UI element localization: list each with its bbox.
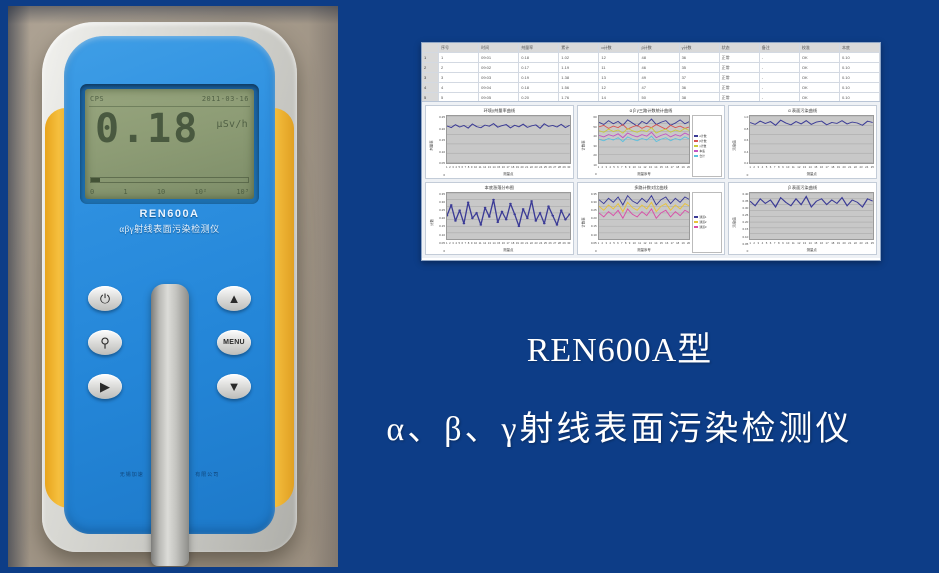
device-model-label: REN600A (64, 208, 275, 220)
spreadsheet-cell: 12 (599, 83, 639, 92)
chart-plot-area (446, 192, 571, 241)
chart-legend-swatch (694, 155, 698, 157)
chart-legend-item: β计数 (694, 139, 720, 143)
chart-data-point (454, 220, 457, 222)
chart-data-point (543, 222, 546, 224)
chart-series-line (447, 124, 570, 129)
lcd-status-right: 2011-03-16 (202, 95, 249, 103)
footnote-right: 有限公司 (195, 471, 219, 478)
chart-x-axis-label: 测量点 (749, 171, 874, 177)
lcd-scale-tick: 0 (90, 188, 94, 196)
chart-data-point (488, 216, 491, 218)
product-model-title: REN600A型 (300, 322, 939, 371)
chart-y-tick: 30 (586, 144, 597, 148)
chart-legend-swatch (694, 221, 698, 223)
spreadsheet-cell: 37 (680, 73, 720, 82)
chart-legend-swatch (694, 216, 698, 218)
search-button[interactable]: ⚲ (88, 330, 122, 355)
chart-x-axis-label: 测量点 (446, 247, 571, 253)
device-subtitle-label: αβγ射线表面污染检测仪 (64, 222, 275, 235)
chart-series-line (599, 128, 690, 133)
spreadsheet-cell: 5 (439, 93, 479, 102)
chart-title: β 表面污染曲线 (729, 183, 876, 192)
lcd-scale: 011010²10³ (90, 186, 249, 197)
chart-data-point (518, 225, 521, 227)
chart-legend-label: 合计 (699, 154, 705, 158)
chart-y-tick: 0.10 (434, 150, 445, 154)
lcd-scale-tick: 10 (157, 188, 165, 196)
chart-data-point (475, 212, 478, 214)
chart-y-tick: 0.25 (737, 213, 748, 217)
chart-legend-item: 通道2 (694, 220, 720, 224)
chart-title: α 表面污染曲线 (729, 106, 876, 115)
chart-y-tick: 0 (586, 249, 597, 253)
spreadsheet-cell: 1.76 (559, 93, 599, 102)
spreadsheet-cell: 50 (639, 93, 679, 102)
chart-card: 多路计数对比曲线计数率0.350.300.250.200.150.100.050… (577, 182, 726, 256)
spreadsheet-cell: - (760, 63, 800, 72)
chart-x-axis-label: 测量点 (446, 171, 571, 177)
spreadsheet-cell: 3 (439, 73, 479, 82)
spreadsheet-cell: γ计数 (680, 43, 720, 52)
chart-y-ticks: 0.350.300.250.200.150.100.050 (586, 192, 598, 254)
chart-series-line (599, 202, 690, 211)
chart-plot-area (749, 192, 874, 241)
device-front-face: CPS 2011-03-16 0.18 μSv/h 011010²10³ REN… (64, 36, 275, 534)
chart-y-tick: 0.35 (586, 192, 597, 196)
spreadsheet-cell: 14 (599, 93, 639, 102)
lcd-scale-tick: 1 (123, 188, 127, 196)
chart-y-tick: 0 (737, 249, 748, 253)
chart-card: 环境γ剂量率曲线剂量率0.250.200.150.100.05012345678… (425, 105, 574, 179)
chart-legend-label: 通道1 (699, 215, 706, 219)
chart-y-tick: 0.30 (586, 200, 597, 204)
power-icon: ⏻ (100, 292, 110, 305)
spreadsheet-cell: - (760, 93, 800, 102)
spreadsheet-cell: 36 (680, 53, 720, 62)
chart-data-point (471, 217, 474, 219)
chart-y-tick: 0.15 (586, 224, 597, 228)
chart-y-tick: 0.20 (586, 216, 597, 220)
chart-data-point (513, 213, 516, 215)
chart-data-point (539, 212, 542, 214)
chart-legend-item: α计数 (694, 134, 720, 138)
chart-series-line (750, 196, 873, 206)
chart-y-tick: 0.20 (737, 220, 748, 224)
spreadsheet-cell: 0.19 (519, 73, 559, 82)
chart-y-ticks: 0.250.200.150.100.050 (434, 115, 446, 177)
spreadsheet-row-index (422, 43, 439, 52)
chart-y-tick: 0 (586, 172, 597, 176)
device-footnote: 无锡加速 有限公司 (64, 471, 275, 478)
chart-legend: 通道1通道2通道3 (692, 192, 722, 254)
chart-y-tick: 0.15 (737, 227, 748, 231)
spreadsheet-cell: 序号 (439, 43, 479, 52)
spreadsheet-cell: 09:01 (479, 53, 519, 62)
chart-y-tick: 0.2 (737, 161, 748, 165)
chart-data-point (551, 214, 554, 216)
lcd-bargraph (90, 177, 249, 183)
spreadsheet-cell: 正常 (720, 73, 760, 82)
spreadsheet-cell: 49 (639, 73, 679, 82)
chart-y-tick: 0.4 (737, 150, 748, 154)
spreadsheet-header-row: 序号时间剂量率累计α计数β计数γ计数状态备注校准本底 (422, 43, 880, 53)
chart-y-tick: 40 (586, 134, 597, 138)
spreadsheet-cell: 38 (680, 93, 720, 102)
chart-y-tick: 0.05 (434, 241, 445, 245)
search-icon: ⚲ (100, 336, 110, 349)
chart-y-tick: 0.05 (434, 161, 445, 165)
chart-data-point (492, 198, 495, 200)
chart-y-tick: 0.05 (586, 241, 597, 245)
chart-series-line (750, 120, 873, 125)
spreadsheet-cell: 13 (599, 73, 639, 82)
chart-legend-swatch (694, 135, 698, 137)
spreadsheet-cell: 46 (639, 63, 679, 72)
chart-x-ticks: 1234567891011121314151617181920 (598, 240, 691, 247)
chart-y-tick: 60 (586, 115, 597, 119)
chart-legend-label: α计数 (699, 134, 706, 138)
chart-data-point (484, 206, 487, 208)
chart-y-tick: 0.25 (434, 208, 445, 212)
chart-series-line (599, 195, 690, 204)
footnote-left: 无锡加速 (120, 471, 144, 478)
spreadsheet-cell: 36 (680, 83, 720, 92)
spreadsheet-cell: 1.02 (559, 53, 599, 62)
chart-title: 本底涨落分布图 (426, 183, 573, 192)
spreadsheet-cell: 2 (439, 63, 479, 72)
chart-x-ticks: 1234567891011121314151617181920212223242… (446, 164, 571, 171)
chart-series-line (599, 136, 690, 141)
chart-title: 多路计数对比曲线 (578, 183, 725, 192)
spreadsheet-cell: OK (800, 73, 840, 82)
spreadsheet-cell: - (760, 73, 800, 82)
chart-legend-swatch (694, 150, 698, 152)
power-button[interactable]: ⏻ (88, 286, 122, 311)
spreadsheet-row-index: 4 (422, 83, 439, 92)
chart-data-point (530, 200, 533, 202)
spreadsheet-cell: 1.38 (559, 73, 599, 82)
title-block: REN600A型 α、β、γ射线表面污染检测仪 (300, 322, 939, 450)
chevron-down-icon: ▼ (228, 380, 241, 393)
spreadsheet-cell: 0.18 (519, 53, 559, 62)
spreadsheet-cell: 时间 (479, 43, 519, 52)
spreadsheet-row-index: 3 (422, 73, 439, 82)
spreadsheet-row: 5509:050.201.76145038正常-OK0.10 (422, 93, 880, 102)
lcd-display: CPS 2011-03-16 0.18 μSv/h 011010²10³ (85, 89, 254, 199)
chart-plot-area (749, 115, 874, 164)
spreadsheet-cell: 0.20 (519, 93, 559, 102)
lcd-status-bar: CPS 2011-03-16 (90, 92, 249, 105)
spreadsheet-cell: 正常 (720, 63, 760, 72)
spreadsheet-cell: 0.17 (519, 63, 559, 72)
chart-x-axis-label: 测量序号 (598, 247, 691, 253)
chart-legend-item: 本底 (694, 149, 720, 153)
spreadsheet-cell: 47 (639, 83, 679, 92)
chart-data-point (463, 222, 466, 224)
lcd-value: 0.18 (95, 109, 199, 149)
spreadsheet-cell: - (760, 83, 800, 92)
chart-data-point (564, 218, 567, 220)
spreadsheet-cell: 1.56 (559, 83, 599, 92)
spreadsheet-cell: 09:02 (479, 63, 519, 72)
spreadsheet-cell: 0.10 (840, 63, 880, 72)
chart-plot-area (446, 115, 571, 164)
chart-y-tick: 0.6 (737, 138, 748, 142)
chart-data-point (447, 214, 448, 216)
chart-y-ticks: 6050403020100 (586, 115, 598, 177)
chart-legend-item: 通道3 (694, 225, 720, 229)
chart-y-tick: 0.25 (586, 208, 597, 212)
spreadsheet-cell: OK (800, 63, 840, 72)
lcd-unit: μSv/h (216, 119, 248, 130)
spreadsheet-cell: 状态 (720, 43, 760, 52)
chart-y-tick: 20 (586, 153, 597, 157)
spreadsheet-cell: 4 (439, 83, 479, 92)
spreadsheet-cell: OK (800, 53, 840, 62)
chart-x-axis-label: 测量点 (749, 247, 874, 253)
chart-y-ticks: 1.00.80.60.40.20 (737, 115, 749, 177)
spreadsheet-row-index: 5 (422, 93, 439, 102)
spreadsheet-area: 序号时间剂量率累计α计数β计数γ计数状态备注校准本底1109:010.181.0… (422, 43, 880, 102)
spreadsheet-cell: β计数 (639, 43, 679, 52)
chart-x-axis-label: 测量序号 (598, 171, 691, 177)
chart-data-point (505, 218, 508, 220)
chart-y-tick: 0.35 (737, 199, 748, 203)
chart-data-point (467, 201, 470, 203)
chart-y-tick: 0.20 (434, 127, 445, 131)
spreadsheet-cell: OK (800, 93, 840, 102)
device-branding: REN600A αβγ射线表面污染检测仪 (64, 208, 275, 235)
chart-series-line (599, 132, 690, 137)
chart-data-point (560, 209, 563, 211)
chart-data-point (526, 217, 529, 219)
product-name-title: α、β、γ射线表面污染检测仪 (300, 401, 939, 450)
chart-y-tick: 0.25 (434, 115, 445, 119)
chart-series-line (599, 208, 690, 217)
chart-legend-label: γ计数 (699, 144, 706, 148)
spreadsheet-cell: 0.10 (840, 53, 880, 62)
spreadsheet-cell: 正常 (720, 53, 760, 62)
chart-y-tick: 0.15 (434, 224, 445, 228)
chart-x-ticks: 1234567891011121314151617181920212223242… (446, 240, 571, 247)
spreadsheet-cell: 0.18 (519, 83, 559, 92)
chart-legend-label: β计数 (699, 139, 706, 143)
menu-button[interactable]: MENU (217, 330, 251, 355)
charts-grid: 环境γ剂量率曲线剂量率0.250.200.150.100.05012345678… (422, 102, 880, 258)
chart-y-tick: 0.10 (586, 233, 597, 237)
spreadsheet-cell: 09:04 (479, 83, 519, 92)
chart-card: β 表面污染曲线污染值0.400.350.300.250.200.150.100… (728, 182, 877, 256)
chart-y-tick: 0.10 (737, 235, 748, 239)
chart-legend-item: 合计 (694, 154, 720, 158)
play-icon: ▶ (100, 380, 110, 393)
spreadsheet-row-index: 1 (422, 53, 439, 62)
lcd-status-left: CPS (90, 95, 104, 103)
chart-title: 环境γ剂量率曲线 (426, 106, 573, 115)
spreadsheet-cell: 正常 (720, 83, 760, 92)
chart-series-line (447, 199, 570, 226)
spreadsheet-cell: - (760, 53, 800, 62)
chart-y-tick: 0.15 (434, 138, 445, 142)
lcd-scale-tick: 10² (194, 188, 207, 196)
chart-series-line (599, 125, 690, 130)
chart-legend-item: γ计数 (694, 144, 720, 148)
spreadsheet-row: 2209:020.171.19114635正常-OK0.10 (422, 63, 880, 73)
spreadsheet-cell: 09:03 (479, 73, 519, 82)
chart-y-tick: 0.30 (737, 206, 748, 210)
chart-y-tick: 0 (434, 173, 445, 177)
chart-y-tick: 0.30 (434, 200, 445, 204)
chart-card: α β γ三路计数统计曲线计数率605040302010012345678910… (577, 105, 726, 179)
spreadsheet-cell: 累计 (559, 43, 599, 52)
chart-data-point (496, 221, 499, 223)
device-handle (151, 284, 189, 566)
spreadsheet-cell: 12 (599, 53, 639, 62)
spreadsheet-cell: 11 (599, 63, 639, 72)
up-button[interactable]: ▲ (217, 286, 251, 311)
chart-y-tick: 10 (586, 163, 597, 167)
chart-y-ticks: 0.400.350.300.250.200.150.100.050 (737, 192, 749, 254)
chart-legend-label: 通道3 (699, 225, 706, 229)
chart-series-line (599, 119, 690, 126)
chart-y-tick: 0 (434, 249, 445, 253)
chart-plot-area (598, 192, 691, 241)
chart-legend: α计数β计数γ计数本底合计 (692, 115, 722, 177)
chart-data-point (547, 205, 550, 207)
chart-data-point (450, 204, 453, 206)
spreadsheet-cell: 正常 (720, 93, 760, 102)
spreadsheet-row-index: 2 (422, 63, 439, 72)
spreadsheet-cell: 0.10 (840, 83, 880, 92)
spreadsheet-cell: OK (800, 83, 840, 92)
play-button[interactable]: ▶ (88, 374, 122, 399)
chart-y-tick: 0 (737, 173, 748, 177)
chart-y-tick: 0.10 (434, 233, 445, 237)
chart-y-tick: 0.05 (737, 242, 748, 246)
chart-card: 本底涨落分布图计数0.350.300.250.200.150.100.05012… (425, 182, 574, 256)
spreadsheet-cell: 0.10 (840, 73, 880, 82)
spreadsheet-row: 1109:010.181.02124836正常-OK0.10 (422, 53, 880, 63)
product-photo: CPS 2011-03-16 0.18 μSv/h 011010²10³ REN… (8, 6, 338, 567)
spreadsheet-cell: 0.10 (840, 93, 880, 102)
chart-legend-swatch (694, 145, 698, 147)
down-button[interactable]: ▼ (217, 374, 251, 399)
chart-x-ticks: 1234567891011121314151617181920 (598, 164, 691, 171)
chart-legend-swatch (694, 140, 698, 142)
spreadsheet-cell: 35 (680, 63, 720, 72)
spreadsheet-cell: α计数 (599, 43, 639, 52)
spreadsheet-cell: 备注 (760, 43, 800, 52)
lcd-scale-tick: 10³ (236, 188, 249, 196)
menu-button-label: MENU (223, 339, 245, 346)
chart-title: α β γ三路计数统计曲线 (578, 106, 725, 115)
chart-x-ticks: 1234567891011121314151617181920212223242… (749, 240, 874, 247)
chart-data-point (522, 208, 525, 210)
chart-y-tick: 50 (586, 125, 597, 129)
spreadsheet-row: 3309:030.191.38134937正常-OK0.10 (422, 73, 880, 83)
spreadsheet-cell: 剂量率 (519, 43, 559, 52)
chart-y-tick: 0.20 (434, 216, 445, 220)
chart-data-point (556, 224, 559, 226)
chart-legend-label: 本底 (699, 149, 705, 153)
chart-y-ticks: 0.350.300.250.200.150.100.050 (434, 192, 446, 254)
chart-legend-item: 通道1 (694, 215, 720, 219)
survey-meter-device: CPS 2011-03-16 0.18 μSv/h 011010²10³ REN… (42, 22, 297, 552)
chart-data-point (534, 220, 537, 222)
chart-legend-label: 通道2 (699, 220, 706, 224)
chart-card: α 表面污染曲线污染值1.00.80.60.40.201234567891011… (728, 105, 877, 179)
spreadsheet-cell: 1.19 (559, 63, 599, 72)
spreadsheet-cell: 本底 (840, 43, 880, 52)
chart-data-point (479, 224, 482, 226)
chart-x-ticks: 1234567891011121314151617181920212223242… (749, 164, 874, 171)
spreadsheet-cell: 1 (439, 53, 479, 62)
spreadsheet-cell: 校准 (800, 43, 840, 52)
chart-legend-swatch (694, 226, 698, 228)
chart-y-tick: 0.40 (737, 192, 748, 196)
chart-data-point (509, 202, 512, 204)
chart-plot-area (598, 115, 691, 164)
spreadsheet-cell: 48 (639, 53, 679, 62)
chart-y-tick: 0.8 (737, 127, 748, 131)
spreadsheet-cell: 09:05 (479, 93, 519, 102)
slide-background: CPS 2011-03-16 0.18 μSv/h 011010²10³ REN… (0, 0, 939, 573)
chart-data-point (501, 210, 504, 212)
lcd-bezel: CPS 2011-03-16 0.18 μSv/h 011010²10³ (80, 84, 259, 204)
chart-y-tick: 1.0 (737, 115, 748, 119)
chart-data-point (458, 209, 461, 211)
spreadsheet-row: 4409:040.181.56124736正常-OK0.10 (422, 83, 880, 93)
chart-y-tick: 0.35 (434, 192, 445, 196)
software-screenshot-panel: 序号时间剂量率累计α计数β计数γ计数状态备注校准本底1109:010.181.0… (421, 42, 881, 261)
chevron-up-icon: ▲ (228, 292, 241, 305)
